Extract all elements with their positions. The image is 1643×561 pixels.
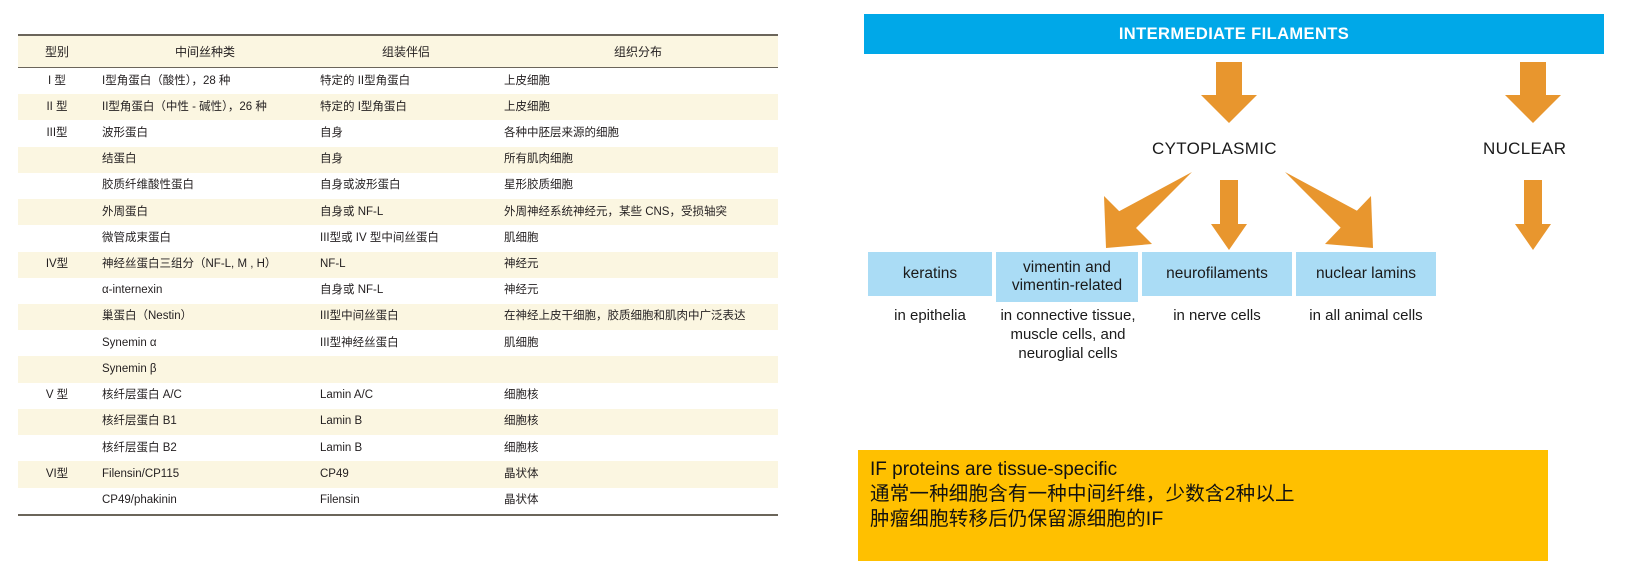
table-cell-partner: Filensin <box>314 488 498 515</box>
table-row: 巢蛋白（Nestin）III型中间丝蛋白在神经上皮干细胞，胶质细胞和肌肉中广泛表… <box>18 304 778 330</box>
table-cell-type <box>18 147 96 173</box>
table-cell-type <box>18 435 96 461</box>
table-row: VI型Filensin/CP115CP49晶状体 <box>18 461 778 487</box>
table-cell-kind: 结蛋白 <box>96 147 314 173</box>
intermediate-filaments-diagram: INTERMEDIATE FILAMENTS <box>820 0 1643 561</box>
table-row: IV型神经丝蛋白三组分（NF-L, M , H）NF-L神经元 <box>18 252 778 278</box>
table-cell-type <box>18 304 96 330</box>
table-cell-type <box>18 225 96 251</box>
table-cell-type <box>18 199 96 225</box>
table-cell-partner: CP49 <box>314 461 498 487</box>
table-cell-kind: I型角蛋白（酸性），28 种 <box>96 68 314 95</box>
table-cell-dist: 细胞核 <box>498 409 778 435</box>
table-cell-dist: 上皮细胞 <box>498 94 778 120</box>
table-body: I 型I型角蛋白（酸性），28 种特定的 II型角蛋白上皮细胞II 型II型角蛋… <box>18 68 778 515</box>
table-row: α-internexin自身或 NF-L神经元 <box>18 278 778 304</box>
table-cell-dist: 肌细胞 <box>498 225 778 251</box>
table-cell-kind: Synemin α <box>96 330 314 356</box>
table-cell-partner: 特定的 II型角蛋白 <box>314 68 498 95</box>
table-cell-type <box>18 356 96 382</box>
table-cell-partner: III型神经丝蛋白 <box>314 330 498 356</box>
table-cell-partner: 自身 <box>314 120 498 146</box>
table-cell-kind: 核纤层蛋白 B2 <box>96 435 314 461</box>
table-cell-kind: CP49/phakinin <box>96 488 314 515</box>
table-cell-dist: 晶状体 <box>498 488 778 515</box>
table-cell-type: I 型 <box>18 68 96 95</box>
table-cell-partner: NF-L <box>314 252 498 278</box>
table-cell-type: IV型 <box>18 252 96 278</box>
table-row: CP49/phakininFilensin晶状体 <box>18 488 778 515</box>
table-cell-type: III型 <box>18 120 96 146</box>
category-box-neurofilaments[interactable]: neurofilaments <box>1142 252 1292 296</box>
table-row: V 型核纤层蛋白 A/CLamin A/C细胞核 <box>18 383 778 409</box>
table-cell-kind: α-internexin <box>96 278 314 304</box>
table-cell-partner: III型或 IV 型中间丝蛋白 <box>314 225 498 251</box>
note-line-3: 肿瘤细胞转移后仍保留源细胞的IF <box>870 507 1538 532</box>
table-cell-kind: 神经丝蛋白三组分（NF-L, M , H） <box>96 252 314 278</box>
table-row: 胶质纤维酸性蛋白自身或波形蛋白星形胶质细胞 <box>18 173 778 199</box>
table-row: 结蛋白自身所有肌肉细胞 <box>18 147 778 173</box>
table-cell-dist: 神经元 <box>498 252 778 278</box>
table-cell-dist: 星形胶质细胞 <box>498 173 778 199</box>
diagram-title-bar: INTERMEDIATE FILAMENTS <box>864 14 1604 54</box>
table-cell-partner: Lamin B <box>314 435 498 461</box>
table-cell-dist: 各种中胚层来源的细胞 <box>498 120 778 146</box>
table-cell-dist <box>498 356 778 382</box>
table-cell-kind: 外周蛋白 <box>96 199 314 225</box>
table-cell-partner: III型中间丝蛋白 <box>314 304 498 330</box>
table-cell-kind: 微管成束蛋白 <box>96 225 314 251</box>
table-cell-partner: Lamin B <box>314 409 498 435</box>
category-desc-keratins: in epithelia <box>854 307 1006 326</box>
table-cell-kind: 核纤层蛋白 A/C <box>96 383 314 409</box>
table-row: III型波形蛋白自身各种中胚层来源的细胞 <box>18 120 778 146</box>
column-header-partner: 组装伴侣 <box>314 35 498 68</box>
table-cell-partner: 自身或 NF-L <box>314 199 498 225</box>
table-row: Synemin β <box>18 356 778 382</box>
table-cell-dist: 在神经上皮干细胞，胶质细胞和肌肉中广泛表达 <box>498 304 778 330</box>
if-protein-table-panel: 型别 中间丝种类 组装伴侣 组织分布 I 型I型角蛋白（酸性），28 种特定的 … <box>18 34 778 516</box>
column-header-dist: 组织分布 <box>498 35 778 68</box>
table-cell-type <box>18 330 96 356</box>
table-cell-dist: 所有肌肉细胞 <box>498 147 778 173</box>
table-row: 外周蛋白自身或 NF-L外周神经系统神经元，某些 CNS，受损轴突 <box>18 199 778 225</box>
table-cell-partner: 特定的 I型角蛋白 <box>314 94 498 120</box>
table-row: 微管成束蛋白III型或 IV 型中间丝蛋白肌细胞 <box>18 225 778 251</box>
note-line-2: 通常一种细胞含有一种中间纤维，少数含2种以上 <box>870 482 1538 507</box>
table-cell-partner: 自身或波形蛋白 <box>314 173 498 199</box>
table-cell-kind: 巢蛋白（Nestin） <box>96 304 314 330</box>
table-header: 型别 中间丝种类 组装伴侣 组织分布 <box>18 35 778 68</box>
category-desc-nuclear-lamins: in all animal cells <box>1296 307 1436 326</box>
arrow-down-to-nuclear <box>1505 62 1561 123</box>
summary-note-box: IF proteins are tissue-specific 通常一种细胞含有… <box>858 450 1548 561</box>
table-cell-kind: 波形蛋白 <box>96 120 314 146</box>
arrow-down-to-cytoplasmic <box>1201 62 1257 123</box>
diagram-arrows <box>820 0 1643 450</box>
column-header-kind: 中间丝种类 <box>96 35 314 68</box>
category-box-keratins[interactable]: keratins <box>868 252 992 296</box>
column-header-type: 型别 <box>18 35 96 68</box>
table-cell-dist: 细胞核 <box>498 435 778 461</box>
table-cell-type: II 型 <box>18 94 96 120</box>
table-cell-dist: 细胞核 <box>498 383 778 409</box>
table-cell-partner: 自身或 NF-L <box>314 278 498 304</box>
branch-label-nuclear: NUCLEAR <box>1483 139 1566 159</box>
category-desc-neurofilaments: in nerve cells <box>1140 307 1294 326</box>
table-cell-dist: 外周神经系统神经元，某些 CNS，受损轴突 <box>498 199 778 225</box>
table-cell-dist: 肌细胞 <box>498 330 778 356</box>
table-row: 核纤层蛋白 B1Lamin B细胞核 <box>18 409 778 435</box>
table-cell-type <box>18 173 96 199</box>
table-cell-kind: Filensin/CP115 <box>96 461 314 487</box>
arrow-diagonal-to-keratins <box>1104 154 1210 248</box>
arrow-down-to-nuclear-lamins <box>1515 180 1551 250</box>
table-cell-partner: 自身 <box>314 147 498 173</box>
table-cell-dist: 神经元 <box>498 278 778 304</box>
table-cell-kind: 胶质纤维酸性蛋白 <box>96 173 314 199</box>
table-cell-kind: II型角蛋白（中性 - 碱性），26 种 <box>96 94 314 120</box>
table-cell-kind: 核纤层蛋白 B1 <box>96 409 314 435</box>
table-cell-kind: Synemin β <box>96 356 314 382</box>
category-desc-vimentin: in connective tissue, muscle cells, and … <box>998 307 1138 363</box>
table-header-row: 型别 中间丝种类 组装伴侣 组织分布 <box>18 35 778 68</box>
arrow-down-to-vimentin <box>1211 180 1247 250</box>
note-line-1: IF proteins are tissue-specific <box>870 458 1538 482</box>
table-row: II 型II型角蛋白（中性 - 碱性），26 种特定的 I型角蛋白上皮细胞 <box>18 94 778 120</box>
branch-label-cytoplasmic: CYTOPLASMIC <box>1152 139 1277 159</box>
arrow-diagonal-to-neurofilaments <box>1267 154 1373 248</box>
table-cell-partner: Lamin A/C <box>314 383 498 409</box>
if-protein-table: 型别 中间丝种类 组装伴侣 组织分布 I 型I型角蛋白（酸性），28 种特定的 … <box>18 34 778 516</box>
table-row: 核纤层蛋白 B2Lamin B细胞核 <box>18 435 778 461</box>
table-cell-type <box>18 409 96 435</box>
table-cell-partner <box>314 356 498 382</box>
table-cell-type: VI型 <box>18 461 96 487</box>
table-row: Synemin αIII型神经丝蛋白肌细胞 <box>18 330 778 356</box>
table-row: I 型I型角蛋白（酸性），28 种特定的 II型角蛋白上皮细胞 <box>18 68 778 95</box>
category-box-nuclear-lamins[interactable]: nuclear lamins <box>1296 252 1436 296</box>
table-cell-dist: 上皮细胞 <box>498 68 778 95</box>
category-box-vimentin[interactable]: vimentin and vimentin-related <box>996 252 1138 302</box>
table-cell-dist: 晶状体 <box>498 461 778 487</box>
table-cell-type: V 型 <box>18 383 96 409</box>
table-cell-type <box>18 488 96 515</box>
table-cell-type <box>18 278 96 304</box>
